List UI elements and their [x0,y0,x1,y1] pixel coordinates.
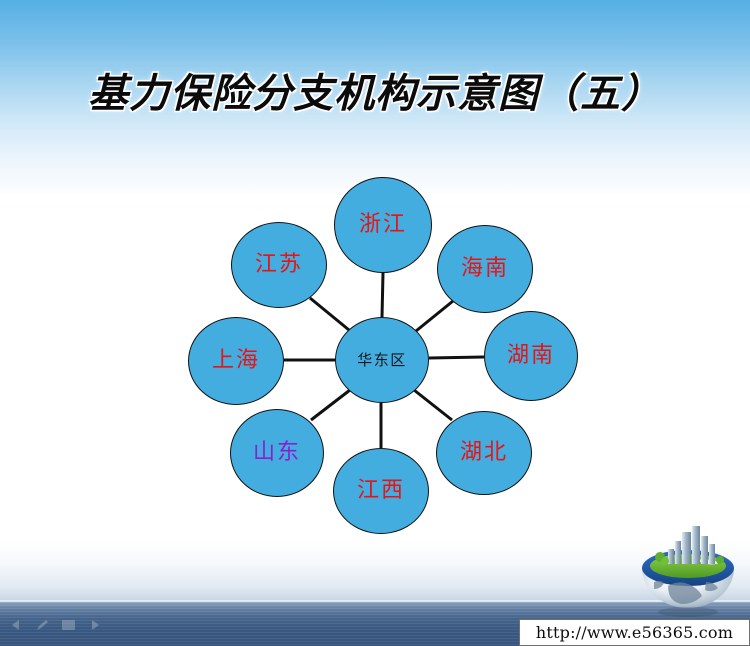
globe-shadow [658,607,718,617]
node-hunan[interactable]: 湖南 [484,311,578,401]
node-label: 湖南 [507,345,555,367]
website-url-plate[interactable]: http://www.e56365.com [519,619,750,646]
node-label: 海南 [461,258,509,280]
slide-menu-icon[interactable] [60,618,77,632]
previous-slide-icon[interactable] [8,618,25,632]
node-label: 江苏 [255,254,303,276]
node-label: 华东区 [357,353,407,368]
connector-center-to-hunan [429,357,484,358]
connector-center-to-zhejiang [382,273,383,317]
slideshow-controls[interactable] [8,618,103,632]
website-url-text: http://www.e56365.com [536,623,733,642]
node-label: 上海 [212,350,260,372]
presentation-slide: 基力保险分支机构示意图（五） 浙江 江苏 海南 上海 [0,0,750,646]
node-label: 山东 [253,442,301,464]
node-hainan[interactable]: 海南 [437,225,533,313]
connector-center-to-shandong [311,390,350,420]
node-shandong[interactable]: 山东 [230,409,324,497]
connector-center-to-hainan [416,301,453,331]
node-jiangsu[interactable]: 江苏 [231,222,327,308]
node-label: 江西 [357,480,405,502]
node-label: 浙江 [359,214,407,236]
node-huadong-region[interactable]: 华东区 [335,317,429,403]
node-zhejiang[interactable]: 浙江 [334,177,432,273]
node-label: 湖北 [460,442,508,464]
node-shanghai[interactable]: 上海 [188,317,284,405]
pen-icon[interactable] [34,618,51,632]
node-hubei[interactable]: 湖北 [436,411,532,495]
globe-city-logo [634,524,742,620]
connector-center-to-hubei [414,390,452,420]
next-slide-icon[interactable] [86,618,103,632]
node-jiangxi[interactable]: 江西 [333,448,429,534]
connector-center-to-jiangsu [310,298,349,330]
